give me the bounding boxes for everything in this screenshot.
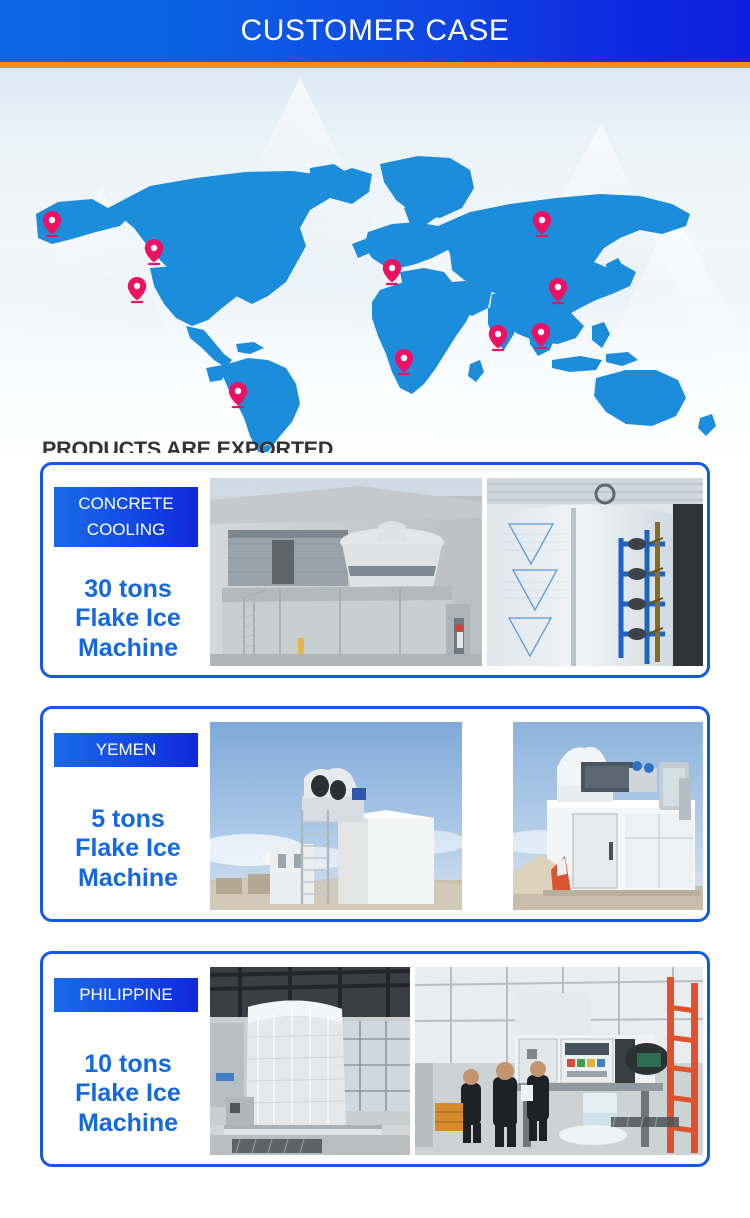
case-product-line1: Flake Ice: [51, 834, 205, 863]
case-photo-left[interactable]: [210, 722, 462, 910]
case-spec: 5 tons Flake Ice Machine: [51, 805, 205, 893]
case-badge-line2: COOLING: [54, 517, 198, 543]
export-caption: PRODUCTS ARE EXPORTED TO MORE THAN 130 C…: [42, 436, 377, 453]
page-header: CUSTOMER CASE: [0, 0, 750, 62]
pin-africa: [394, 349, 414, 377]
case-photo-left[interactable]: [210, 967, 410, 1155]
case-card[interactable]: CONCRETE COOLING 30 tons Flake Ice Machi…: [40, 462, 710, 678]
case-badge: YEMEN: [54, 733, 198, 767]
case-photo-left[interactable]: [210, 478, 482, 666]
case-badge: PHILIPPINE: [54, 978, 198, 1012]
pin-alaska: [42, 211, 62, 239]
case-product-line2: Machine: [51, 864, 205, 893]
case-product-line1: Flake Ice: [51, 604, 205, 633]
export-caption-line1: PRODUCTS ARE EXPORTED: [42, 436, 377, 453]
case-capacity: 5 tons: [51, 805, 205, 834]
pin-south-america: [228, 382, 248, 410]
pin-india: [488, 325, 508, 353]
case-photo-right[interactable]: [415, 967, 703, 1155]
case-capacity: 10 tons: [51, 1050, 205, 1079]
case-spec: 10 tons Flake Ice Machine: [51, 1050, 205, 1138]
case-photo-right[interactable]: [487, 478, 703, 666]
case-card-info: CONCRETE COOLING 30 tons Flake Ice Machi…: [51, 475, 211, 665]
case-card[interactable]: PHILIPPINE 10 tons Flake Ice Machine: [40, 951, 710, 1167]
case-card-info: PHILIPPINE 10 tons Flake Ice Machine: [51, 964, 211, 1154]
case-card-info: YEMEN 5 tons Flake Ice Machine: [51, 719, 211, 909]
pin-europe: [382, 259, 402, 287]
pin-usa: [127, 277, 147, 305]
case-spec: 30 tons Flake Ice Machine: [51, 575, 205, 663]
pin-russia: [532, 211, 552, 239]
case-product-line2: Machine: [51, 1109, 205, 1138]
pin-china: [548, 278, 568, 306]
case-badge-line1: CONCRETE: [54, 491, 198, 517]
case-photo-right[interactable]: [513, 722, 703, 910]
case-badge: CONCRETE COOLING: [54, 487, 198, 547]
pin-southeast-asia: [531, 323, 551, 351]
pin-canada: [144, 239, 164, 267]
world-map-section: PRODUCTS ARE EXPORTED TO MORE THAN 130 C…: [0, 68, 750, 453]
case-product-line2: Machine: [51, 634, 205, 663]
case-card[interactable]: YEMEN 5 tons Flake Ice Machine: [40, 706, 710, 922]
world-map-continents: [0, 68, 750, 453]
page-title: CUSTOMER CASE: [0, 0, 750, 62]
case-capacity: 30 tons: [51, 575, 205, 604]
case-product-line1: Flake Ice: [51, 1079, 205, 1108]
